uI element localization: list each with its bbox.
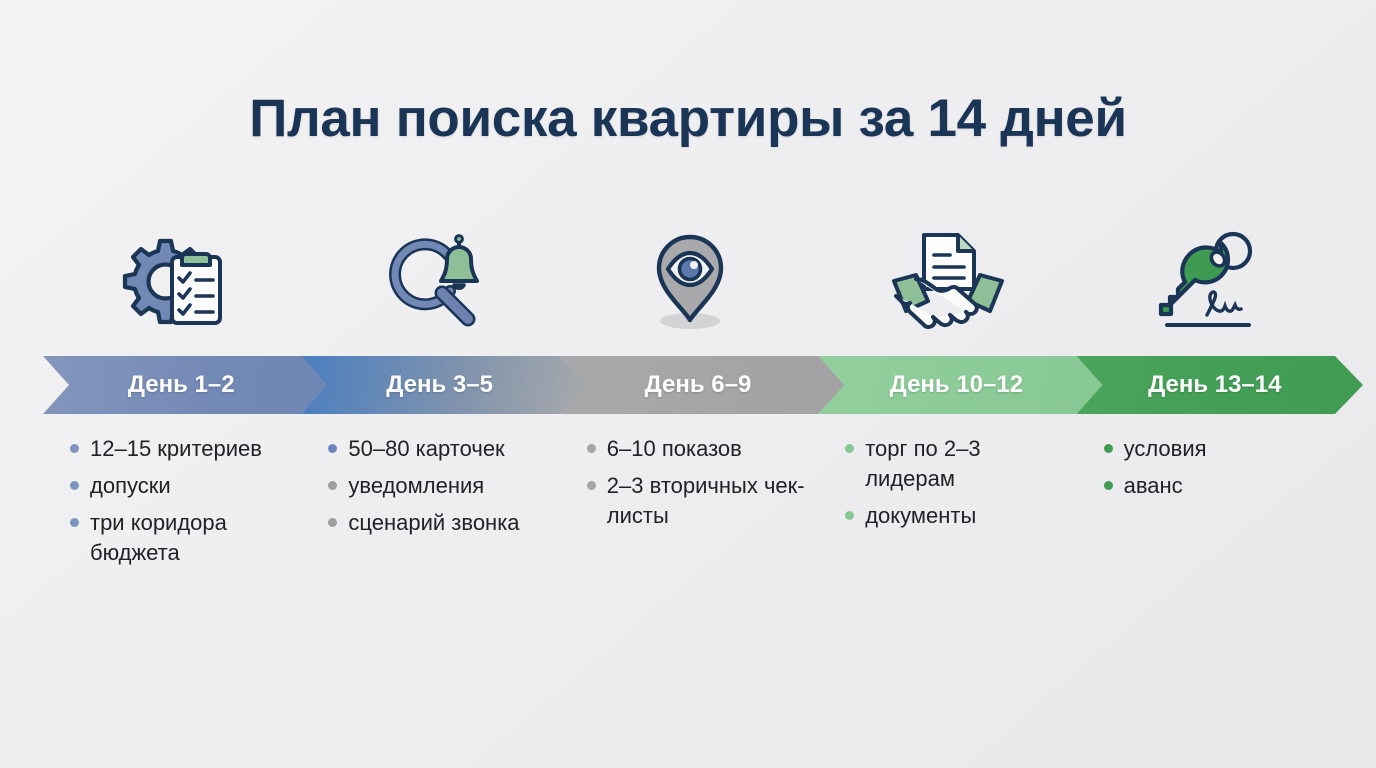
list-item-text: уведомления: [348, 471, 484, 501]
list-item: 6–10 показов: [587, 434, 813, 464]
chevron-shape: [1077, 356, 1363, 414]
list-item-text: 50–80 карточек: [348, 434, 504, 464]
signature-mark: [1207, 292, 1241, 315]
chevron-shape: [301, 356, 587, 414]
list-item-text: 12–15 критериев: [90, 434, 262, 464]
document-shape: [924, 235, 974, 289]
bullet-list-4: торг по 2–3 лидерам документы: [845, 434, 1071, 538]
list-item-text: 2–3 вторичных чек-листы: [607, 471, 813, 531]
bullet-dot-icon: [328, 481, 337, 490]
list-item: допуски: [70, 471, 296, 501]
steps-container: День 1–2 12–15 критериев допуски три кор…: [44, 222, 1336, 642]
bullet-dot-icon: [587, 444, 596, 453]
stage-band-5[interactable]: День 13–14: [1078, 356, 1336, 414]
list-item-text: сценарий звонка: [348, 508, 519, 538]
handshake-document-icon: [819, 222, 1077, 340]
list-item: торг по 2–3 лидерам: [845, 434, 1071, 494]
list-item-text: 6–10 показов: [607, 434, 742, 464]
bullet-list-3: 6–10 показов 2–3 вторичных чек-листы: [587, 434, 813, 538]
step-column-5: День 13–14 условия аванс: [1078, 222, 1336, 642]
list-item-text: три коридора бюджета: [90, 508, 296, 568]
map-pin-eye-icon: [561, 222, 819, 340]
list-item: условия: [1104, 434, 1330, 464]
list-item: документы: [845, 501, 1071, 531]
list-item: 12–15 критериев: [70, 434, 296, 464]
bullet-dot-icon: [587, 481, 596, 490]
chevron-shape: [560, 356, 846, 414]
chevron-shape: [43, 356, 329, 414]
key-shape: [1161, 243, 1228, 314]
list-item-text: аванс: [1124, 471, 1183, 501]
list-item-text: торг по 2–3 лидерам: [865, 434, 1071, 494]
step-column-1: День 1–2 12–15 критериев допуски три кор…: [44, 222, 302, 642]
magnifier-bell-icon: [302, 222, 560, 340]
list-item: три коридора бюджета: [70, 508, 296, 568]
list-item: аванс: [1104, 471, 1330, 501]
step-column-3: День 6–9 6–10 показов 2–3 вторичных чек-…: [561, 222, 819, 642]
bullet-dot-icon: [845, 444, 854, 453]
list-item: сценарий звонка: [328, 508, 554, 538]
bullet-list-2: 50–80 карточек уведомления сценарий звон…: [328, 434, 554, 545]
page-title: План поиска квартиры за 14 дней: [0, 88, 1376, 149]
list-item-text: документы: [865, 501, 976, 531]
bullet-dot-icon: [1104, 481, 1113, 490]
key-signature-icon: [1078, 222, 1336, 340]
bullet-dot-icon: [328, 518, 337, 527]
stage-band-1[interactable]: День 1–2: [44, 356, 302, 414]
stage-band-2[interactable]: День 3–5: [302, 356, 560, 414]
chevron-shape: [818, 356, 1104, 414]
step-column-2: День 3–5 50–80 карточек уведомления сцен…: [302, 222, 560, 642]
step-column-4: День 10–12 торг по 2–3 лидерам документы: [819, 222, 1077, 642]
bullet-dot-icon: [70, 481, 79, 490]
bullet-dot-icon: [70, 518, 79, 527]
list-item: уведомления: [328, 471, 554, 501]
bullet-list-1: 12–15 критериев допуски три коридора бюд…: [70, 434, 296, 575]
stage-band-3[interactable]: День 6–9: [561, 356, 819, 414]
list-item: 50–80 карточек: [328, 434, 554, 464]
gear-clipboard-icon: [44, 222, 302, 340]
bullet-dot-icon: [845, 511, 854, 520]
infographic-slide: План поиска квартиры за 14 дней: [0, 0, 1376, 768]
list-item-text: условия: [1124, 434, 1207, 464]
list-item-text: допуски: [90, 471, 171, 501]
bullet-dot-icon: [328, 444, 337, 453]
bullet-dot-icon: [70, 444, 79, 453]
bullet-list-5: условия аванс: [1104, 434, 1330, 508]
bullet-dot-icon: [1104, 444, 1113, 453]
stage-band-4[interactable]: День 10–12: [819, 356, 1077, 414]
list-item: 2–3 вторичных чек-листы: [587, 471, 813, 531]
